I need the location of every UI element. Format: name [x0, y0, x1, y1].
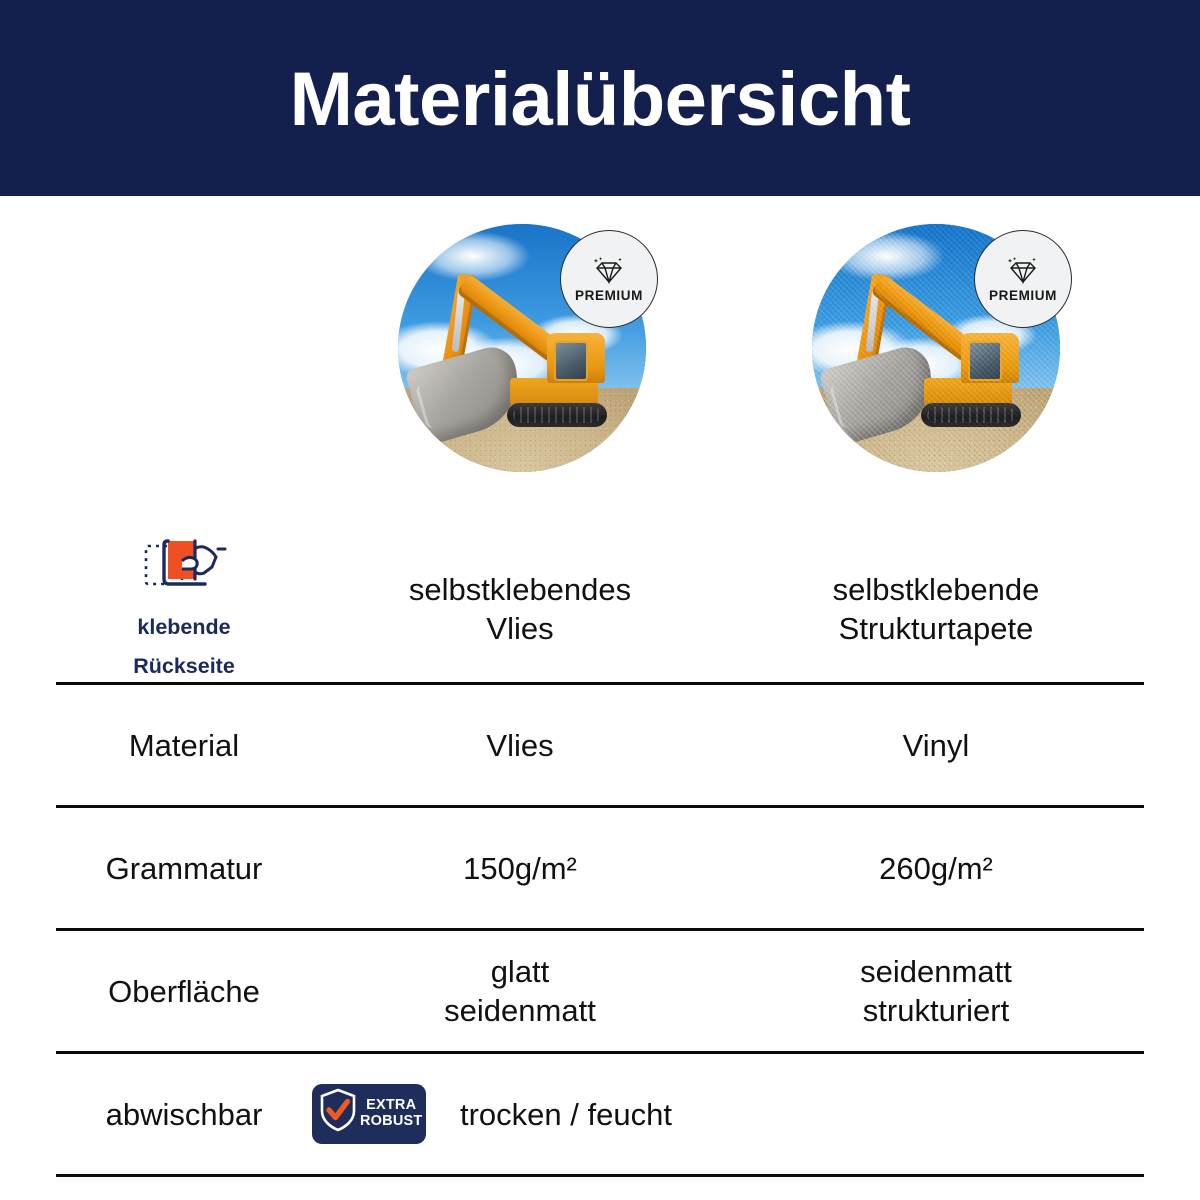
table-row-abwischbar: abwischbar EXTRAROBUST trocken / feucht — [56, 1053, 1144, 1176]
extra-robust-badge: EXTRAROBUST — [312, 1084, 426, 1144]
table-header-row: klebende Rückseite selbstklebendes Vlies… — [56, 535, 1144, 684]
excavator-cab-window — [968, 341, 1002, 381]
premium-badge-label: PREMIUM — [989, 288, 1057, 303]
cell-material-vlies: Vlies — [312, 684, 728, 807]
premium-badge-label: PREMIUM — [575, 288, 643, 303]
shield-check-icon — [318, 1087, 358, 1142]
page-header: Materialübersicht — [0, 0, 1200, 196]
row-label-abwischbar: abwischbar — [56, 1053, 312, 1176]
page-title: Materialübersicht — [290, 62, 911, 138]
excavator-track — [507, 403, 607, 427]
premium-badge: PREMIUM — [974, 230, 1072, 328]
cell-grammatur-strukturtapete: 260g/m² — [728, 807, 1144, 930]
table-row-oberflaeche: Oberfläche glatt seidenmatt seidenmatt s… — [56, 930, 1144, 1053]
cell-abwischbar-value: EXTRAROBUST trocken / feucht — [312, 1053, 1144, 1176]
sticky-backing-feature: klebende Rückseite — [56, 535, 312, 684]
cell-material-strukturtapete: Vinyl — [728, 684, 1144, 807]
table-row-grammatur: Grammatur 150g/m² 260g/m² — [56, 807, 1144, 930]
extra-robust-label: EXTRAROBUST — [360, 1098, 422, 1129]
diamond-icon — [590, 255, 628, 288]
column-header-strukturtapete: selbstklebende Strukturtapete — [728, 535, 1144, 684]
premium-badge: PREMIUM — [560, 230, 658, 328]
abwischbar-value-text: trocken / feucht — [460, 1095, 672, 1134]
cell-oberflaeche-strukturtapete: seidenmatt strukturiert — [728, 930, 1144, 1053]
product-image-row: PREMIUM — [0, 210, 1200, 490]
row-label-grammatur: Grammatur — [56, 807, 312, 930]
material-comparison-table: klebende Rückseite selbstklebendes Vlies… — [56, 535, 1144, 1177]
peel-adhesive-backing-icon — [56, 535, 312, 600]
column-header-vlies: selbstklebendes Vlies — [312, 535, 728, 684]
cell-oberflaeche-vlies: glatt seidenmatt — [312, 930, 728, 1053]
row-label-oberflaeche: Oberfläche — [56, 930, 312, 1053]
cell-grammatur-vlies: 150g/m² — [312, 807, 728, 930]
excavator-track — [921, 403, 1021, 427]
diamond-icon — [1004, 255, 1042, 288]
row-label-material: Material — [56, 684, 312, 807]
excavator-cab-window — [554, 341, 588, 381]
table-row-material: Material Vlies Vinyl — [56, 684, 1144, 807]
product-card-vlies[interactable]: PREMIUM — [398, 224, 658, 484]
sticky-backing-label: klebende Rückseite — [133, 615, 235, 678]
product-card-strukturtapete[interactable]: PREMIUM — [812, 224, 1072, 484]
